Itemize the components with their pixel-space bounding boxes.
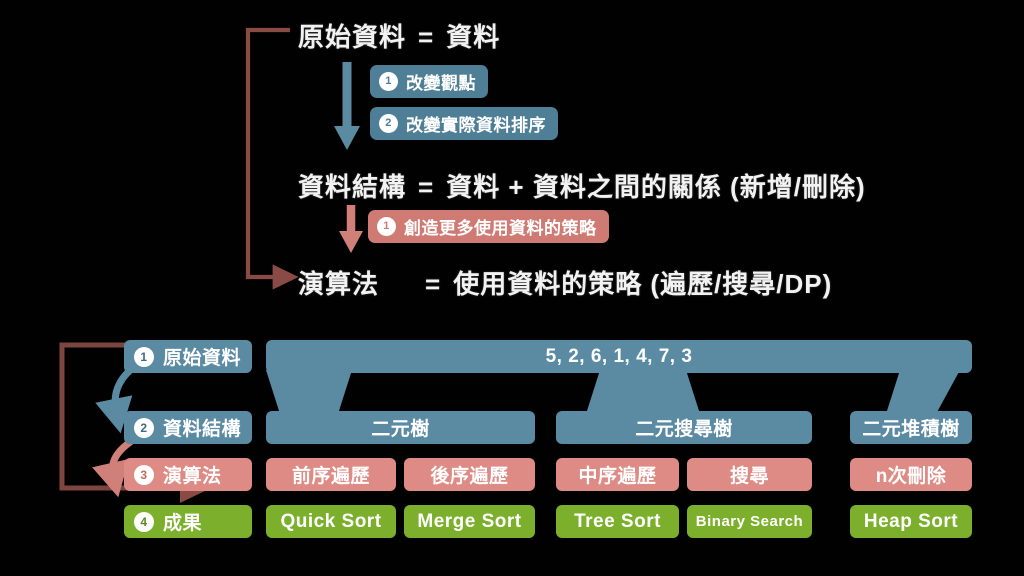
row-label-text: 資料結構 <box>163 414 241 441</box>
pink-down-arrow <box>339 205 363 253</box>
note-change-data-order[interactable]: 2 改變實際資料排序 <box>370 107 558 140</box>
note-badge-1: 1 <box>379 72 398 91</box>
cell-n-deletions[interactable]: n次刪除 <box>850 458 972 491</box>
cell-binary-search[interactable]: Binary Search <box>687 505 812 538</box>
note-label: 創造更多使用資料的策略 <box>404 214 597 239</box>
funnel-connectors <box>266 370 960 414</box>
diagram-canvas: 原始資料=資料 資料結構=資料 + 資料之間的關係 (新增/刪除) 演算法=使用… <box>0 0 1024 576</box>
cell-preorder-traversal[interactable]: 前序遍歷 <box>266 458 396 491</box>
top-bracket-arrow <box>248 30 290 277</box>
row-label-text: 成果 <box>163 508 202 535</box>
equation-line-1: 原始資料=資料 <box>298 17 500 54</box>
row-label-data-structure[interactable]: 2 資料結構 <box>124 411 252 444</box>
cell-raw-data-values[interactable]: 5, 2, 6, 1, 4, 7, 3 <box>266 340 972 373</box>
cell-quick-sort[interactable]: Quick Sort <box>266 505 396 538</box>
row-badge-1: 1 <box>134 347 154 367</box>
cell-merge-sort[interactable]: Merge Sort <box>404 505 535 538</box>
row-badge-2: 2 <box>134 418 154 438</box>
row-badge-3: 3 <box>134 465 154 485</box>
note-create-strategies[interactable]: 1 創造更多使用資料的策略 <box>368 210 609 243</box>
note-change-viewpoint[interactable]: 1 改變觀點 <box>370 65 488 98</box>
row-label-algorithm[interactable]: 3 演算法 <box>124 458 252 491</box>
note-label: 改變觀點 <box>406 69 476 94</box>
note-label: 改變實際資料排序 <box>406 111 546 136</box>
cell-postorder-traversal[interactable]: 後序遍歷 <box>404 458 535 491</box>
equation-line-2: 資料結構=資料 + 資料之間的關係 (新增/刪除) <box>298 167 866 204</box>
cell-binary-heap[interactable]: 二元堆積樹 <box>850 411 972 444</box>
blue-down-arrow <box>334 62 360 150</box>
note-badge-2: 2 <box>379 114 398 133</box>
cell-inorder-traversal[interactable]: 中序遍歷 <box>556 458 679 491</box>
cell-tree-sort[interactable]: Tree Sort <box>556 505 679 538</box>
note-badge-1: 1 <box>377 217 396 236</box>
row-badge-4: 4 <box>134 512 154 532</box>
row-label-text: 原始資料 <box>163 343 241 370</box>
cell-binary-tree[interactable]: 二元樹 <box>266 411 535 444</box>
cell-binary-search-tree[interactable]: 二元搜尋樹 <box>556 411 812 444</box>
cell-search[interactable]: 搜尋 <box>687 458 812 491</box>
row-label-raw-data[interactable]: 1 原始資料 <box>124 340 252 373</box>
row-label-text: 演算法 <box>163 461 222 488</box>
cell-heap-sort[interactable]: Heap Sort <box>850 505 972 538</box>
equation-line-3: 演算法=使用資料的策略 (遍歷/搜尋/DP) <box>298 264 832 301</box>
row-label-result[interactable]: 4 成果 <box>124 505 252 538</box>
